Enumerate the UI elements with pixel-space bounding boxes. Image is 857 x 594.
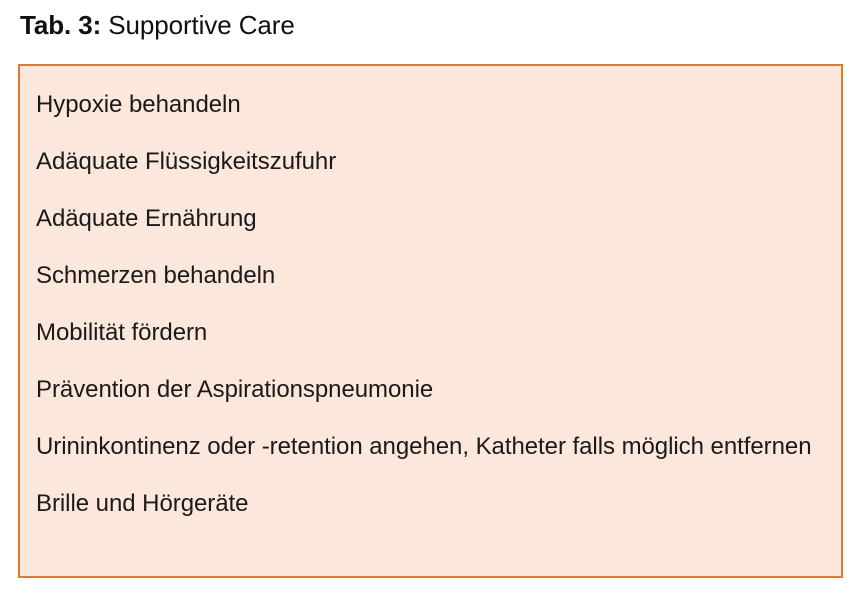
table-row: Urininkontinenz oder -retention angehen,… (36, 428, 827, 465)
table-row: Mobilität fördern (36, 314, 827, 351)
table-figure-page: Tab. 3: Supportive Care Hypoxie behandel… (0, 0, 857, 594)
table-row: Adäquate Ernährung (36, 200, 827, 237)
table-row-list: Hypoxie behandeln Adäquate Flüssigkeitsz… (20, 66, 841, 522)
table-row: Brille und Hörgeräte (36, 485, 827, 522)
table-row: Prävention der Aspirationspneumonie (36, 371, 827, 408)
table-row: Schmerzen behandeln (36, 257, 827, 294)
table-row: Adäquate Flüssigkeitszufuhr (36, 143, 827, 180)
table-caption-label: Tab. 3: (20, 10, 101, 40)
table-caption-title: Supportive Care (101, 10, 295, 40)
supportive-care-table: Hypoxie behandeln Adäquate Flüssigkeitsz… (18, 64, 843, 578)
table-row: Hypoxie behandeln (36, 86, 827, 123)
table-caption: Tab. 3: Supportive Care (20, 9, 295, 41)
